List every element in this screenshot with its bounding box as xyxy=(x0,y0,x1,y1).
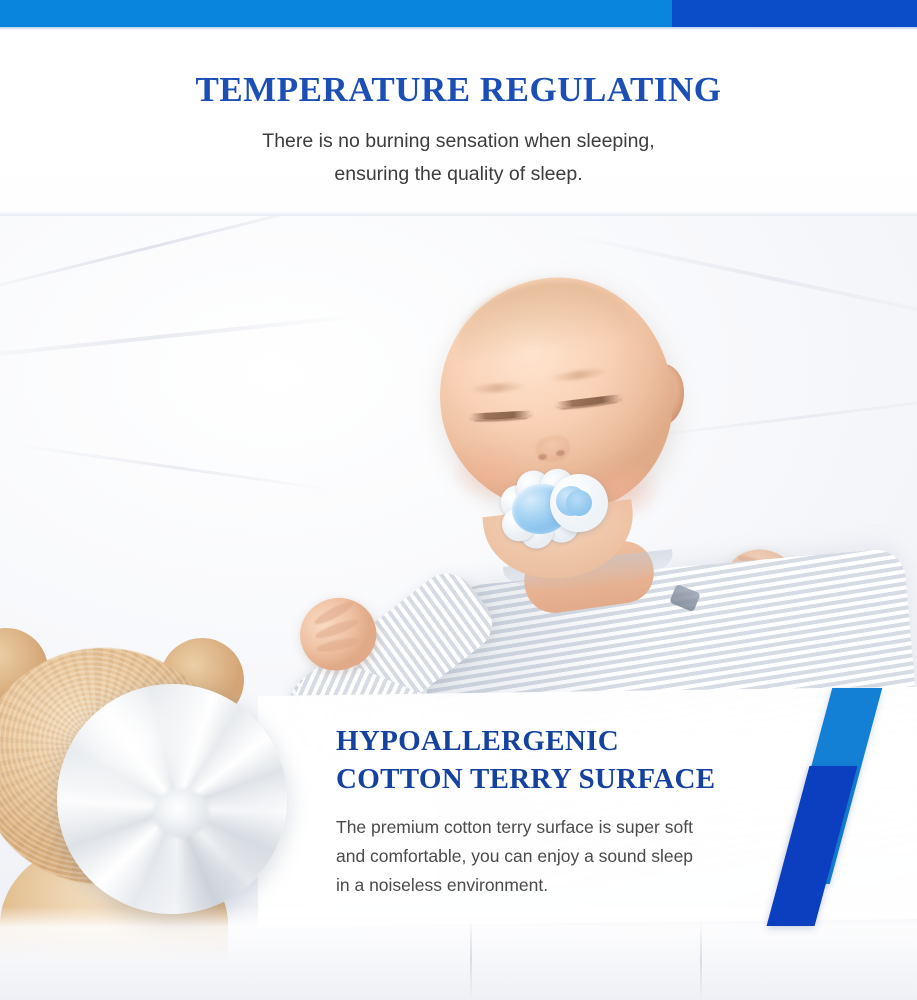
subtitle-line-2: ensuring the quality of sleep. xyxy=(0,158,917,191)
sheet-fold xyxy=(700,922,702,1000)
swatch-center-twist xyxy=(153,788,209,838)
sheet-fold xyxy=(470,916,472,1000)
card-title-line-1: HYPOALLERGENIC xyxy=(336,722,856,760)
product-feature-page: TEMPERATURE REGULATING There is no burni… xyxy=(0,0,917,1000)
banner-segment-light xyxy=(0,0,672,27)
card-title-line-2: COTTON TERRY SURFACE xyxy=(336,760,856,798)
pacifier-ring-hole xyxy=(566,490,592,516)
card-body-line-1: The premium cotton terry surface is supe… xyxy=(336,813,806,842)
page-title: TEMPERATURE REGULATING xyxy=(0,70,917,110)
subtitle-line-1: There is no burning sensation when sleep… xyxy=(0,125,917,158)
feature-card-title: HYPOALLERGENIC COTTON TERRY SURFACE xyxy=(336,722,856,798)
header-section: TEMPERATURE REGULATING There is no burni… xyxy=(0,30,917,216)
card-body-line-2: and comfortable, you can enjoy a sound s… xyxy=(336,842,806,871)
page-subtitle: There is no burning sensation when sleep… xyxy=(0,125,917,191)
fabric-swatch-circle xyxy=(57,684,287,914)
banner-segment-dark xyxy=(672,0,917,27)
feature-card-body: The premium cotton terry surface is supe… xyxy=(336,813,806,900)
top-banner xyxy=(0,0,917,27)
card-body-line-3: in a noiseless environment. xyxy=(336,871,806,900)
